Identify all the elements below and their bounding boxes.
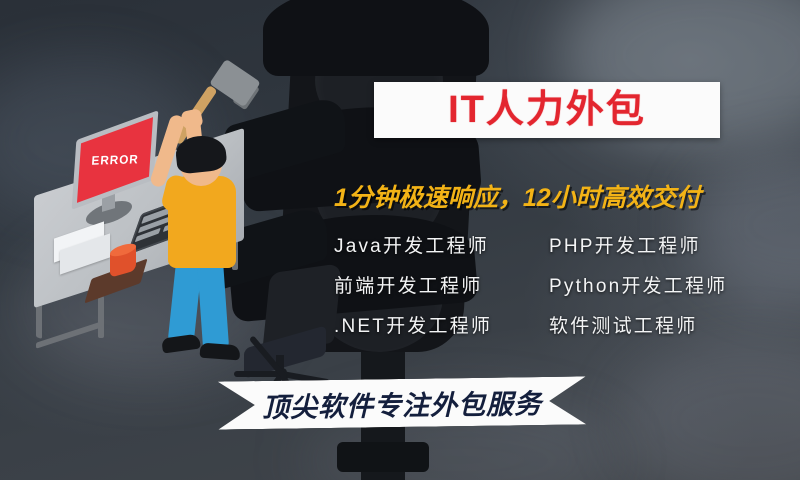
- poster-canvas: ERROR: [0, 0, 800, 480]
- desk-leg: [98, 296, 104, 338]
- traffic-light-base: [337, 442, 429, 472]
- desk-illustration: ERROR: [18, 70, 298, 370]
- service-item-frontend: 前端开发工程师: [334, 271, 549, 298]
- service-item-php: PHP开发工程师: [549, 231, 779, 258]
- service-row: 前端开发工程师 Python开发工程师: [334, 264, 786, 304]
- service-list: Java开发工程师 PHP开发工程师 前端开发工程师 Python开发工程师 .…: [334, 224, 786, 344]
- service-item-python: Python开发工程师: [549, 271, 779, 298]
- desk-leg-bar: [36, 321, 102, 348]
- page-title: IT人力外包: [448, 91, 646, 129]
- service-item-java: Java开发工程师: [334, 231, 549, 258]
- service-row: .NET开发工程师 软件测试工程师: [334, 304, 786, 344]
- leg-right: [197, 257, 229, 351]
- monitor-error-text: ERROR: [91, 152, 139, 168]
- ribbon-slogan: 顶尖软件专注外包服务: [262, 382, 543, 425]
- bottom-ribbon-banner: 顶尖软件专注外包服务: [218, 376, 587, 429]
- shoe-left: [161, 333, 201, 353]
- traffic-light-hood: [263, 0, 489, 76]
- service-item-dotnet: .NET开发工程师: [334, 311, 549, 338]
- service-row: Java开发工程师 PHP开发工程师: [334, 224, 786, 264]
- subtitle-tagline: 1分钟极速响应，12小时高效交付: [334, 178, 780, 214]
- service-item-qa: 软件测试工程师: [549, 311, 779, 338]
- title-banner: IT人力外包: [374, 82, 720, 138]
